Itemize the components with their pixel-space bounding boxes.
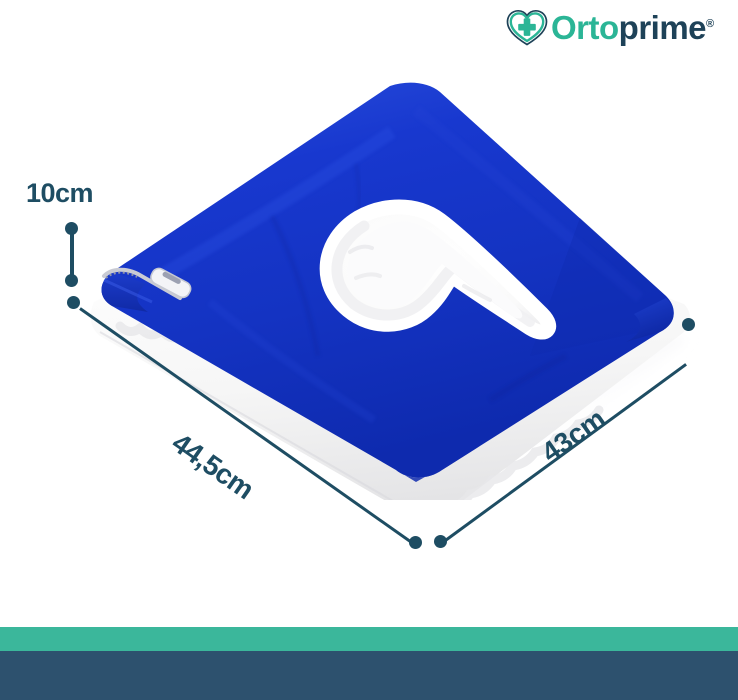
brand-name-part-one: Orto xyxy=(551,9,619,46)
dimension-dot-width-start xyxy=(434,535,447,548)
dimension-line-height xyxy=(70,232,74,280)
dimension-dot-height-bottom xyxy=(65,274,78,287)
cushion-illustration xyxy=(60,70,700,500)
dimension-dot-length-end xyxy=(409,536,422,549)
product-photo xyxy=(60,70,700,500)
brand-wordmark: Ortoprime® xyxy=(551,11,714,44)
banner-base-band xyxy=(0,651,738,700)
brand-name-part-two: prime xyxy=(619,9,706,46)
registered-trademark-symbol: ® xyxy=(706,18,714,30)
brand-logo: Ortoprime® xyxy=(505,4,735,52)
dimension-dot-width-end xyxy=(682,318,695,331)
dimension-dot-length-start xyxy=(67,296,80,309)
banner-accent-band xyxy=(0,627,738,651)
product-image-canvas: Ortoprime® xyxy=(0,0,738,700)
dimension-label-height: 10cm xyxy=(26,178,93,209)
heart-with-medical-cross-icon xyxy=(505,8,549,48)
dimension-dot-height-top xyxy=(65,222,78,235)
